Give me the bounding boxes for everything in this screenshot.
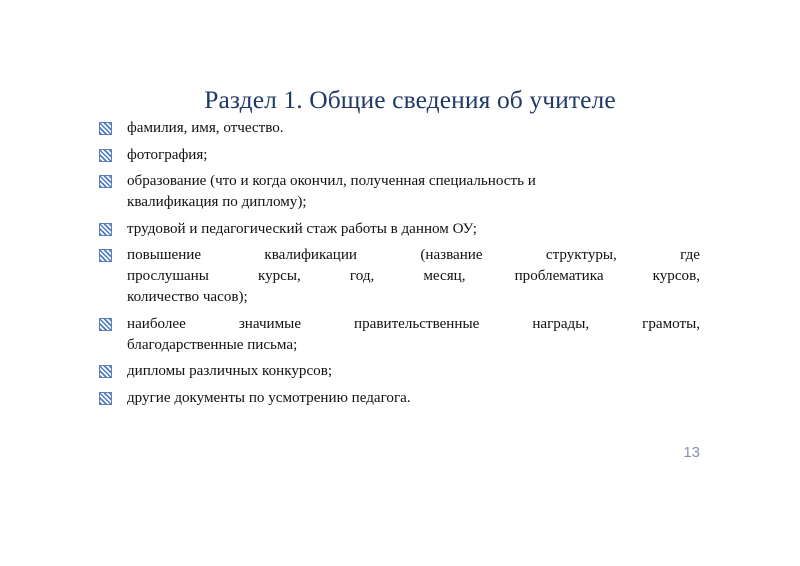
list-item-label: дипломы различных конкурсов; xyxy=(127,361,700,382)
list-item: образование (что и когда окончил, получе… xyxy=(99,171,700,213)
list-item-label-line: количество часов); xyxy=(127,287,700,308)
hatched-square-bullet-icon xyxy=(99,175,112,188)
hatched-square-bullet-icon xyxy=(99,249,112,262)
hatched-square-bullet-icon xyxy=(99,122,112,135)
slide-canvas: Раздел 1. Общие сведения об учителе фами… xyxy=(0,0,800,566)
list-item-label: другие документы по усмотрению педагога. xyxy=(127,388,700,409)
list-item-label-line: образование (что и когда окончил, получе… xyxy=(127,171,700,192)
list-item-label-line: благодарственные письма; xyxy=(127,335,700,356)
list-item: другие документы по усмотрению педагога. xyxy=(99,388,700,409)
list-item: наиболее значимые правительственные нагр… xyxy=(99,314,700,356)
page-title: Раздел 1. Общие сведения об учителе xyxy=(60,86,760,114)
list-item: повышение квалификации (название структу… xyxy=(99,245,700,308)
list-item-label-line: квалификация по диплому); xyxy=(127,192,700,213)
bullet-list: фамилия, имя, отчество. фотография; обра… xyxy=(99,118,700,414)
list-item: трудовой и педагогический стаж работы в … xyxy=(99,219,700,240)
list-item-label-line: наиболее значимые правительственные нагр… xyxy=(127,314,700,335)
list-item-label: фамилия, имя, отчество. xyxy=(127,118,700,139)
hatched-square-bullet-icon xyxy=(99,365,112,378)
list-item: дипломы различных конкурсов; xyxy=(99,361,700,382)
list-item-label: фотография; xyxy=(127,145,700,166)
hatched-square-bullet-icon xyxy=(99,223,112,236)
list-item-label-line: прослушаны курсы, год, месяц, проблемати… xyxy=(127,266,700,287)
list-item: фотография; xyxy=(99,145,700,166)
list-item-label-line: повышение квалификации (название структу… xyxy=(127,245,700,266)
hatched-square-bullet-icon xyxy=(99,318,112,331)
list-item-label: трудовой и педагогический стаж работы в … xyxy=(127,219,700,240)
hatched-square-bullet-icon xyxy=(99,149,112,162)
hatched-square-bullet-icon xyxy=(99,392,112,405)
list-item: фамилия, имя, отчество. xyxy=(99,118,700,139)
page-number: 13 xyxy=(620,444,700,462)
